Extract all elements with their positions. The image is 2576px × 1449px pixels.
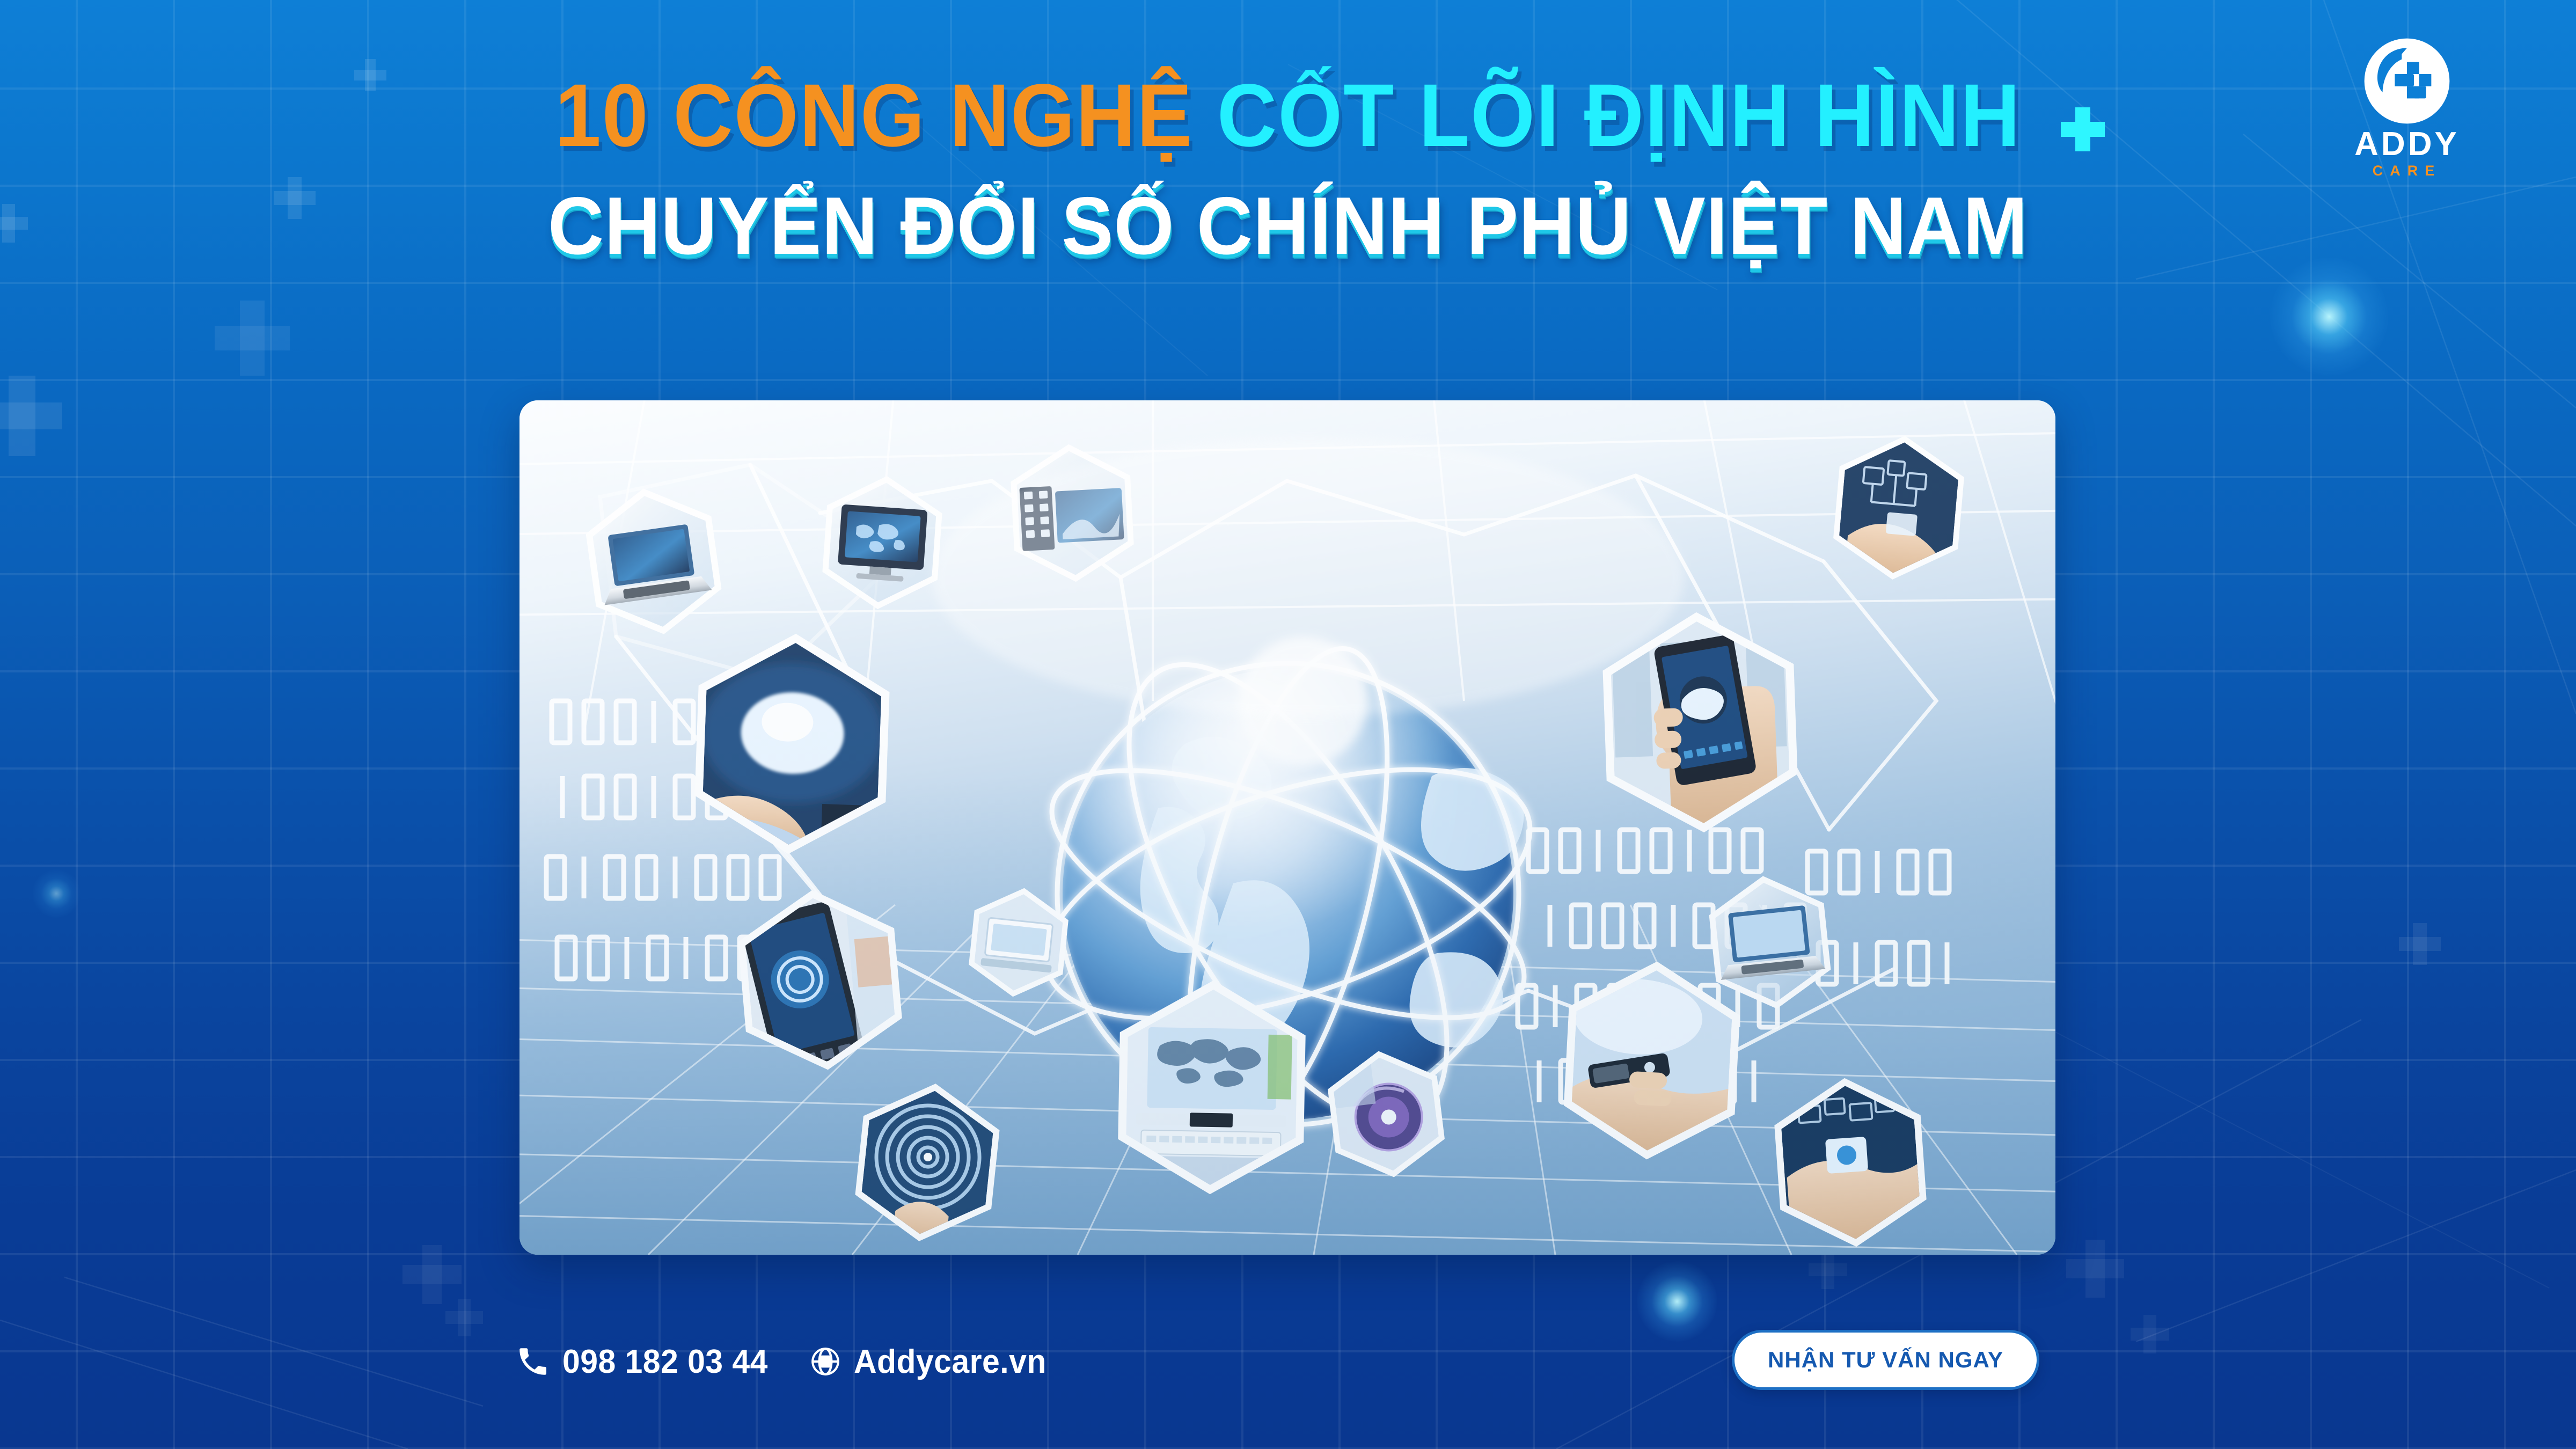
hero-technology-collage [519, 400, 2055, 1255]
logo-tagline: CARE [2337, 164, 2477, 178]
headline-part-number: 10 CÔNG NGHỆ [555, 66, 1193, 165]
headline-block: 10 CÔNG NGHỆ CỐT LÕI ĐỊNH HÌNH CHUYỂN ĐỔ… [0, 64, 2576, 273]
phone-contact[interactable]: 098 182 03 44 [515, 1343, 779, 1381]
plus-decor-icon [215, 301, 290, 376]
headline-line-2: CHUYỂN ĐỔI SỐ CHÍNH PHỦ VIỆT NAM [64, 179, 2512, 273]
plus-decor-icon [402, 1245, 462, 1304]
headline-part-core: CỐT LÕI ĐỊNH HÌNH [1217, 66, 2021, 165]
glow-dot [32, 869, 80, 918]
globe-icon [809, 1345, 842, 1378]
phone-number: 098 182 03 44 [562, 1343, 768, 1381]
plus-decor-icon [2066, 1240, 2124, 1298]
phone-icon [515, 1344, 551, 1379]
contact-group: 098 182 03 44 Addycare.vn [515, 1327, 1057, 1396]
plus-decor-icon [2399, 923, 2441, 965]
cta-button[interactable]: NHẬN TƯ VẤN NGAY [1732, 1330, 2039, 1390]
plus-decor-icon [0, 376, 62, 456]
hero-artwork [519, 400, 2055, 1255]
logo-name: ADDY [2337, 128, 2477, 161]
plus-decor-icon [1809, 1250, 1847, 1289]
brand-logo[interactable]: ADDY CARE [2337, 38, 2477, 178]
addycare-mark-icon [2363, 38, 2450, 125]
headline-line-1: 10 CÔNG NGHỆ CỐT LÕI ĐỊNH HÌNH [90, 64, 2486, 168]
footer-bar: 098 182 03 44 Addycare.vn NHẬN TƯ VẤN NG… [0, 1327, 2576, 1396]
website-url: Addycare.vn [854, 1343, 1046, 1381]
glow-dot [2270, 258, 2388, 376]
website-contact[interactable]: Addycare.vn [809, 1343, 1057, 1381]
